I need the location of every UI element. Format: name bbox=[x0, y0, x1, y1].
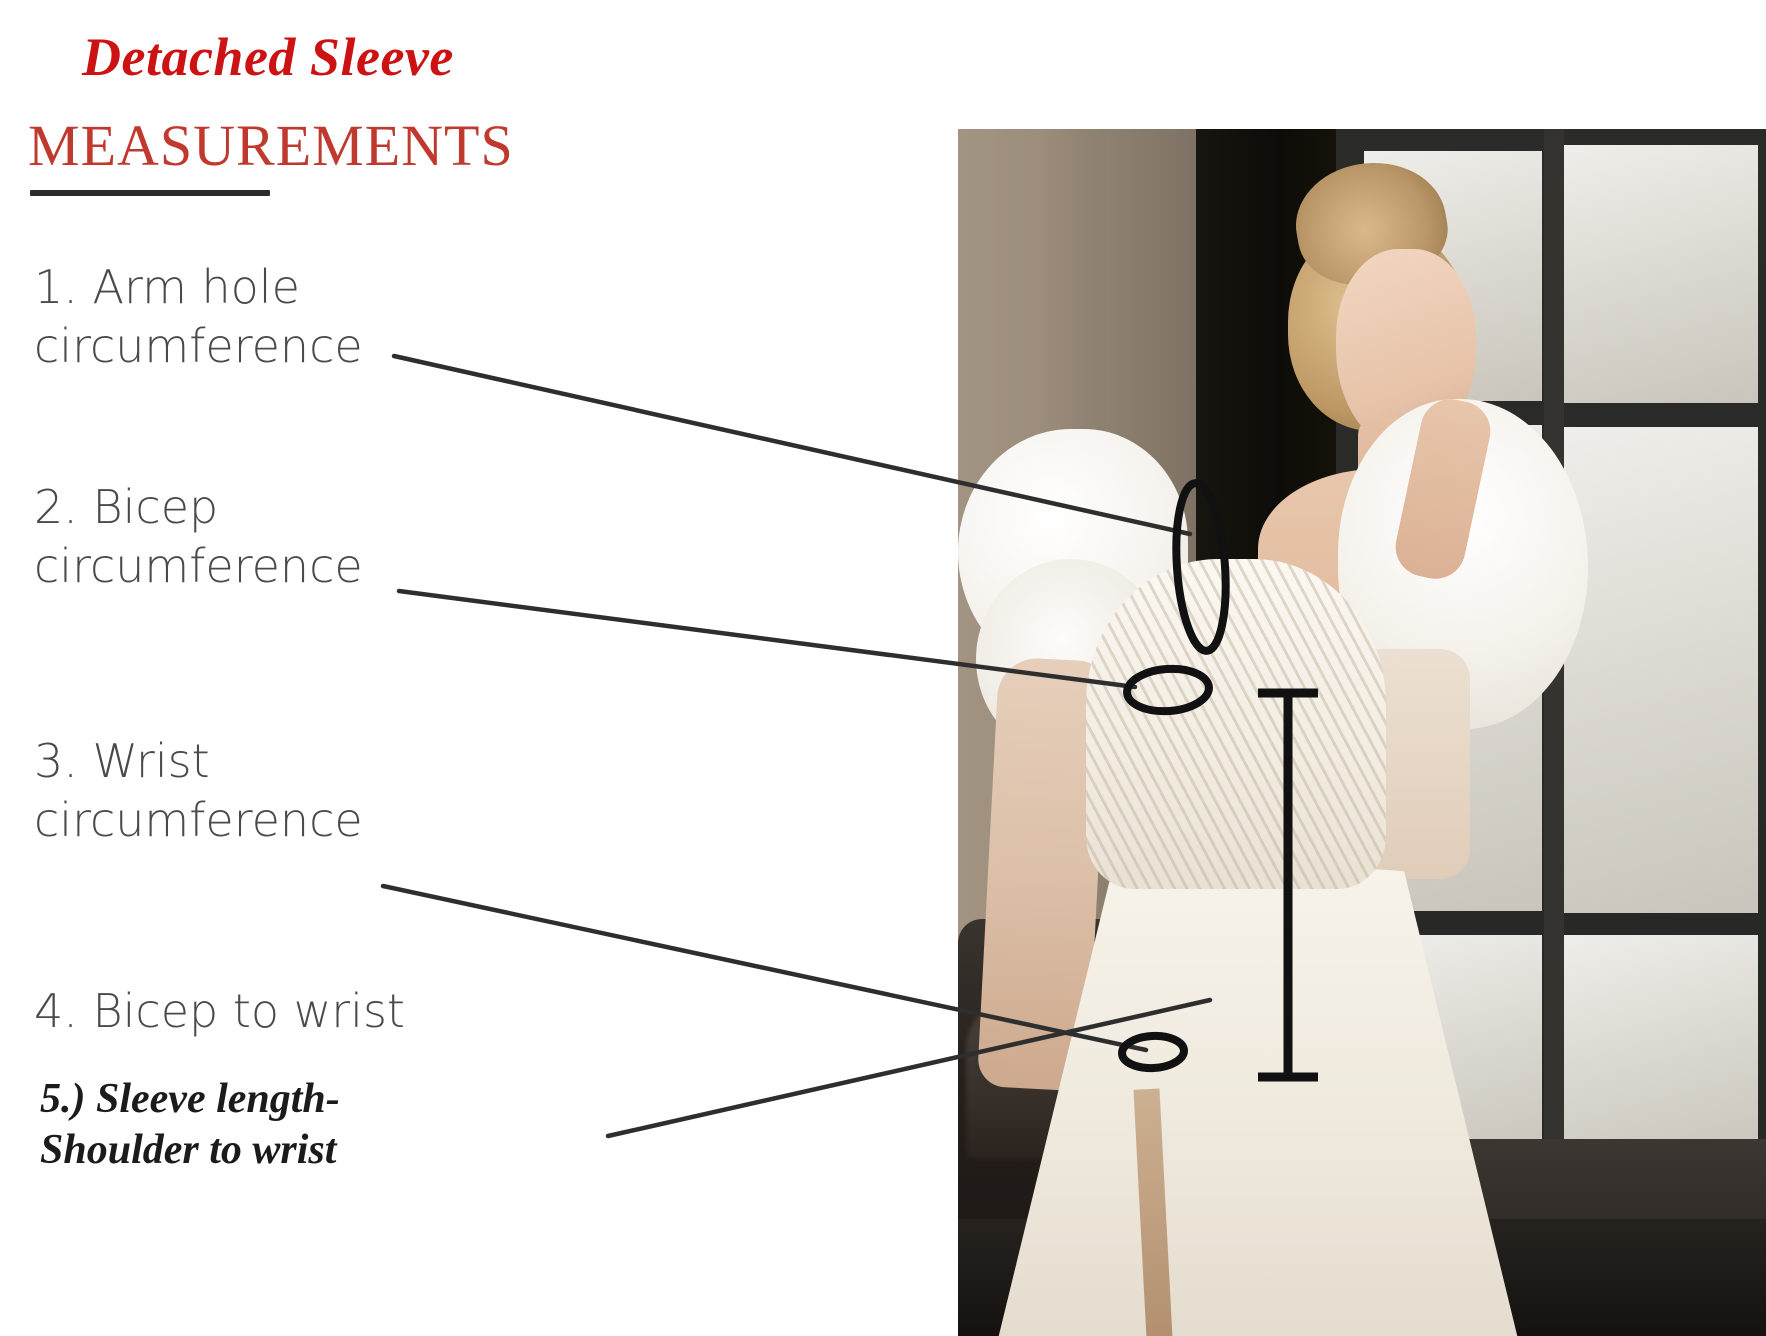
measurement-item-sleeve-length: 5.) Sleeve length- Shoulder to wrist bbox=[40, 1074, 340, 1176]
title-underline-rule bbox=[30, 190, 270, 196]
photo-scene bbox=[958, 129, 1766, 1336]
measurement-item-bicep-to-wrist: 4. Bicep to wrist bbox=[34, 982, 405, 1041]
measurement-item-arm-hole: 1. Arm hole circumference bbox=[34, 258, 363, 376]
page-title-detached-sleeve: Detached Sleeve bbox=[82, 26, 454, 88]
bride-photo bbox=[958, 129, 1766, 1336]
measurement-item-wrist: 3. Wrist circumference bbox=[34, 732, 363, 850]
measurement-item-bicep: 2. Bicep circumference bbox=[34, 478, 363, 596]
window-pane bbox=[1562, 935, 1758, 1155]
dress-bodice bbox=[1086, 559, 1386, 889]
window-pane bbox=[1562, 427, 1758, 913]
measurement-guide-page: Detached Sleeve MEASUREMENTS 1. Arm hole… bbox=[0, 0, 1766, 1336]
window-pane bbox=[1562, 145, 1758, 403]
page-title-measurements: MEASUREMENTS bbox=[28, 112, 514, 179]
